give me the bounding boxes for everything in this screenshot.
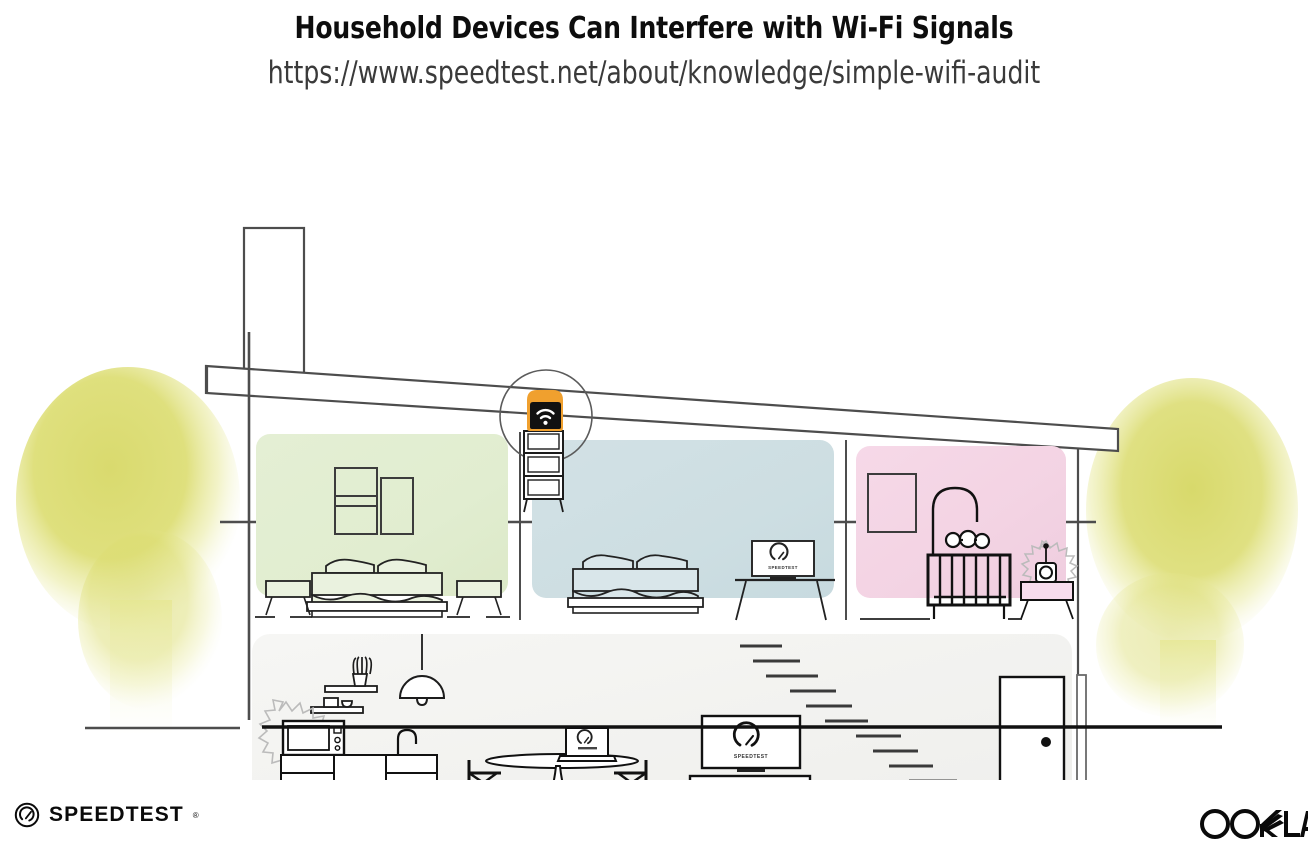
ookla-k-rays <box>1260 810 1284 837</box>
source-url: https://www.speedtest.net/about/knowledg… <box>65 55 1242 91</box>
ookla-wordmark-icon <box>1198 804 1308 844</box>
infographic-canvas: Household Devices Can Interfere with Wi-… <box>0 0 1308 861</box>
page-title: Household Devices Can Interfere with Wi-… <box>46 11 1262 46</box>
chimney <box>244 228 304 373</box>
laptop-speedtest <box>558 728 616 761</box>
house-cutaway-illustration: SPEEDTEST <box>0 100 1308 780</box>
monitor-speedtest: SPEEDTEST <box>752 541 814 580</box>
monitor-screen-label: SPEEDTEST <box>768 565 798 570</box>
tree-left-foliage <box>16 367 240 735</box>
nightstand-right <box>457 581 501 615</box>
speedtest-logo[interactable]: SPEEDTEST ® <box>14 802 199 828</box>
speedtest-registered-mark: ® <box>193 811 199 820</box>
speedtest-wordmark: SPEEDTEST <box>49 803 184 827</box>
kitchen-counter <box>281 755 437 780</box>
ookla-logo[interactable] <box>1198 804 1308 844</box>
television-speedtest: SPEEDTEST <box>702 716 800 772</box>
media-console <box>690 776 810 780</box>
room-fill-pink <box>856 446 1066 598</box>
tv-screen-label: SPEEDTEST <box>734 754 768 760</box>
footer: SPEEDTEST ® <box>0 790 1308 850</box>
speedtest-gauge-icon <box>14 802 40 828</box>
shelf-unit <box>524 431 563 512</box>
nightstand-left <box>266 581 310 615</box>
wifi-router <box>527 390 563 431</box>
side-table <box>1021 582 1073 619</box>
header: Household Devices Can Interfere with Wi-… <box>0 0 1308 91</box>
door-knob-icon <box>1041 737 1051 747</box>
